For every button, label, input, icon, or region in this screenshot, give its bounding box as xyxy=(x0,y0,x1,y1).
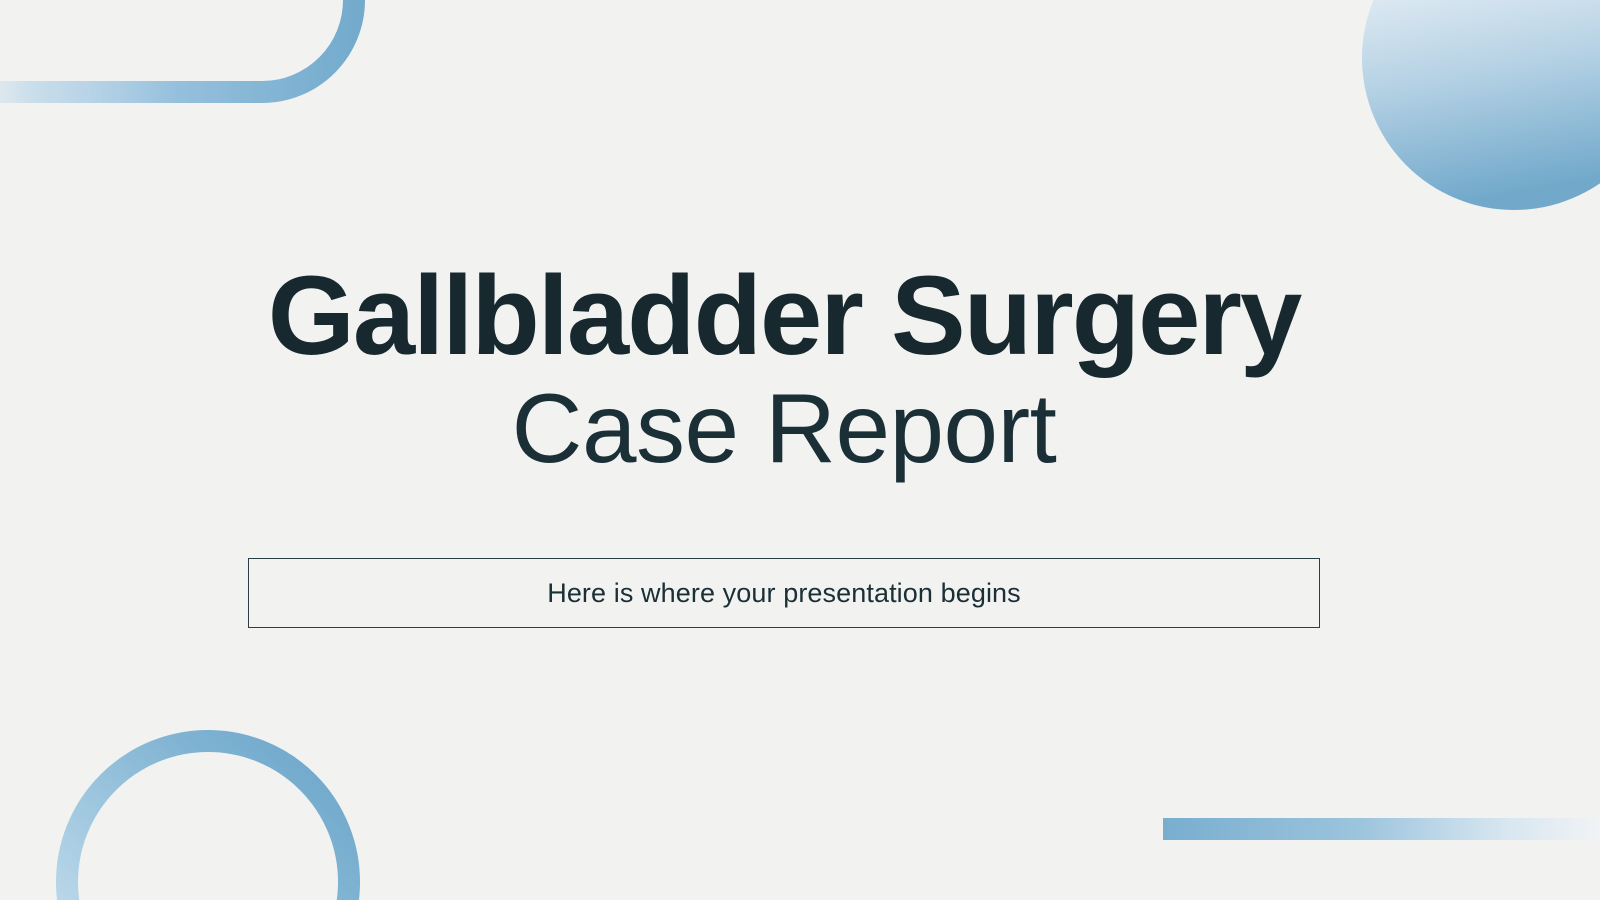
slide-content: Gallbladder Surgery Case Report Here is … xyxy=(0,0,1600,900)
tagline-box: Here is where your presentation begins xyxy=(248,558,1320,628)
title-block: Gallbladder Surgery Case Report xyxy=(0,258,1568,479)
presentation-slide: Gallbladder Surgery Case Report Here is … xyxy=(0,0,1600,900)
tagline-text: Here is where your presentation begins xyxy=(547,578,1021,609)
page-subtitle: Case Report xyxy=(0,379,1568,479)
page-title: Gallbladder Surgery xyxy=(0,258,1568,373)
